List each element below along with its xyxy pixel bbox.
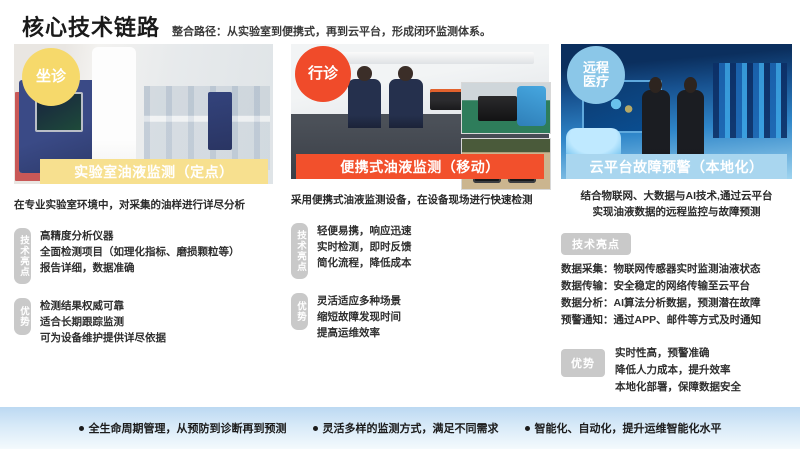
feature-lines-highlights-lab: 高精度分析仪器 全面检测项目（如理化指标、磨损颗粒等） 报告详细，数据准确 [40, 228, 240, 277]
lead-line: 实现油液数据的远程监控与故障预测 [561, 205, 792, 221]
footer-item: 智能化、自动化，提升运维智能化水平 [525, 420, 722, 436]
feature-line: 适合长期跟踪监测 [40, 314, 166, 330]
page-title: 核心技术链路 [22, 10, 160, 42]
lead-text-lab: 在专业实验室环境中，对采集的油样进行详尽分析 [14, 198, 273, 214]
photo-lab-bench [144, 86, 271, 170]
column-portable: 便携式油液监测（移动） 行诊 采用便携式油液监测设备，在设备现场进行快速检测 技… [283, 44, 555, 402]
feature-advantages-portable: 优势 灵活适应多种场景 缩短故障发现时间 提高运维效率 [291, 293, 549, 342]
badge-cloud-line-1: 远程 [583, 61, 609, 75]
photo-wrap-lab: 实验室油液监测（定点） 坐诊 [14, 44, 273, 184]
feature-line: 报告详细，数据准确 [40, 260, 240, 276]
bullet-dot-icon [79, 426, 84, 431]
slide-root: 核心技术链路 整合路径：从实验室到便携式，再到云平台，形成闭环监测体系。 实验室… [0, 0, 800, 449]
lead-text-cloud: 结合物联网、大数据与AI技术,通过云平台 实现油液数据的远程监控与故障预测 [561, 189, 792, 221]
feature-line: 检测结果权威可靠 [40, 298, 166, 314]
feature-line: 数据分析：AI算法分析数据，预测潜在故障 [561, 295, 792, 312]
feature-highlights-portable: 技术亮点 轻便易携，响应迅速 实时检测，即时反馈 简化流程，降低成本 [291, 223, 549, 279]
feature-line: 数据采集：物联网传感器实时监测油液状态 [561, 261, 792, 278]
feature-highlights-lab: 技术亮点 高精度分析仪器 全面检测项目（如理化指标、磨损颗粒等） 报告详细，数据… [14, 228, 273, 284]
feature-line: 轻便易携，响应迅速 [317, 223, 412, 239]
photo-portable-person-b [389, 79, 423, 128]
photo-lab-cabinet [208, 92, 231, 151]
footer-item-label: 智能化、自动化，提升运维智能化水平 [535, 420, 722, 436]
badge-lab: 坐诊 [22, 48, 80, 106]
footer-item: 灵活多样的监测方式，满足不同需求 [313, 420, 499, 436]
feature-line: 数据传输：安全稳定的网络传输至云平台 [561, 278, 792, 295]
columns-container: 实验室油液监测（定点） 坐诊 在专业实验室环境中，对采集的油样进行详尽分析 技术… [0, 44, 800, 402]
feature-line: 实时检测，即时反馈 [317, 239, 412, 255]
feature-line: 全面检测项目（如理化指标、磨损颗粒等） [40, 244, 240, 260]
lead-text-portable: 采用便携式油液监测设备，在设备现场进行快速检测 [291, 193, 549, 209]
feature-line: 可为设备维护提供详尽依据 [40, 330, 166, 346]
photo-wrap-cloud: 云平台故障预警（本地化） 远程 医疗 [561, 44, 792, 179]
feature-line: 高精度分析仪器 [40, 228, 240, 244]
feature-line: 灵活适应多种场景 [317, 293, 401, 309]
feature-line: 降低人力成本，提升效率 [615, 362, 741, 379]
badge-cloud-line-2: 医疗 [583, 75, 609, 89]
tag-advantages-cloud: 优势 [561, 349, 605, 377]
slide-header: 核心技术链路 整合路径：从实验室到便携式，再到云平台，形成闭环监测体系。 [22, 10, 491, 42]
feature-line: 缩短故障发现时间 [317, 309, 401, 325]
caption-lab: 实验室油液监测（定点） [40, 159, 268, 184]
footer-summary-bar: 全生命周期管理，从预防到诊断再到预测 灵活多样的监测方式，满足不同需求 智能化、… [0, 407, 800, 449]
footer-item-label: 全生命周期管理，从预防到诊断再到预测 [89, 420, 287, 436]
caption-portable: 便携式油液监测（移动） [296, 154, 544, 179]
feature-lines-advantages-cloud: 实时性高，预警准确 降低人力成本，提升效率 本地化部署，保障数据安全 [615, 345, 741, 396]
page-subtitle: 整合路径：从实验室到便携式，再到云平台，形成闭环监测体系。 [172, 23, 491, 39]
feature-lines-advantages-portable: 灵活适应多种场景 缩短故障发现时间 提高运维效率 [317, 293, 401, 342]
badge-portable: 行诊 [295, 46, 351, 102]
footer-item-label: 灵活多样的监测方式，满足不同需求 [323, 420, 499, 436]
feature-line: 实时性高，预警准确 [615, 345, 741, 362]
lead-line: 结合物联网、大数据与AI技术,通过云平台 [561, 189, 792, 205]
bullet-dot-icon [313, 426, 318, 431]
footer-item: 全生命周期管理，从预防到诊断再到预测 [79, 420, 287, 436]
mini-photo-bench-test [461, 82, 551, 134]
feature-lines-highlights-cloud: 数据采集：物联网传感器实时监测油液状态 数据传输：安全稳定的网络传输至云平台 数… [561, 261, 792, 329]
tag-advantages-lab: 优势 [14, 298, 31, 335]
feature-line: 提高运维效率 [317, 325, 401, 341]
column-lab: 实验室油液监测（定点） 坐诊 在专业实验室环境中，对采集的油样进行详尽分析 技术… [0, 44, 283, 402]
feature-advantages-cloud: 优势 实时性高，预警准确 降低人力成本，提升效率 本地化部署，保障数据安全 [561, 339, 792, 396]
photo-cloud-console-desk [566, 128, 621, 158]
feature-lines-highlights-portable: 轻便易携，响应迅速 实时检测，即时反馈 简化流程，降低成本 [317, 223, 412, 272]
column-cloud: 云平台故障预警（本地化） 远程 医疗 结合物联网、大数据与AI技术,通过云平台 … [555, 44, 800, 402]
photo-portable-person-a [348, 79, 382, 128]
feature-line: 简化流程，降低成本 [317, 255, 412, 271]
feature-line: 本地化部署，保障数据安全 [615, 379, 741, 396]
feature-line: 预警通知：通过APP、邮件等方式及时通知 [561, 312, 792, 329]
tag-highlights-lab: 技术亮点 [14, 228, 31, 284]
feature-advantages-lab: 优势 检测结果权威可靠 适合长期跟踪监测 可为设备维护提供详尽依据 [14, 298, 273, 347]
photo-cloud-light-panels [713, 63, 787, 139]
caption-cloud: 云平台故障预警（本地化） [566, 154, 788, 179]
tag-highlights-portable: 技术亮点 [291, 223, 308, 279]
bullet-dot-icon [525, 426, 530, 431]
feature-lines-advantages-lab: 检测结果权威可靠 适合长期跟踪监测 可为设备维护提供详尽依据 [40, 298, 166, 347]
badge-cloud: 远程 医疗 [567, 46, 625, 104]
tag-advantages-portable: 优势 [291, 293, 308, 330]
tag-highlights-cloud: 技术亮点 [561, 233, 631, 255]
